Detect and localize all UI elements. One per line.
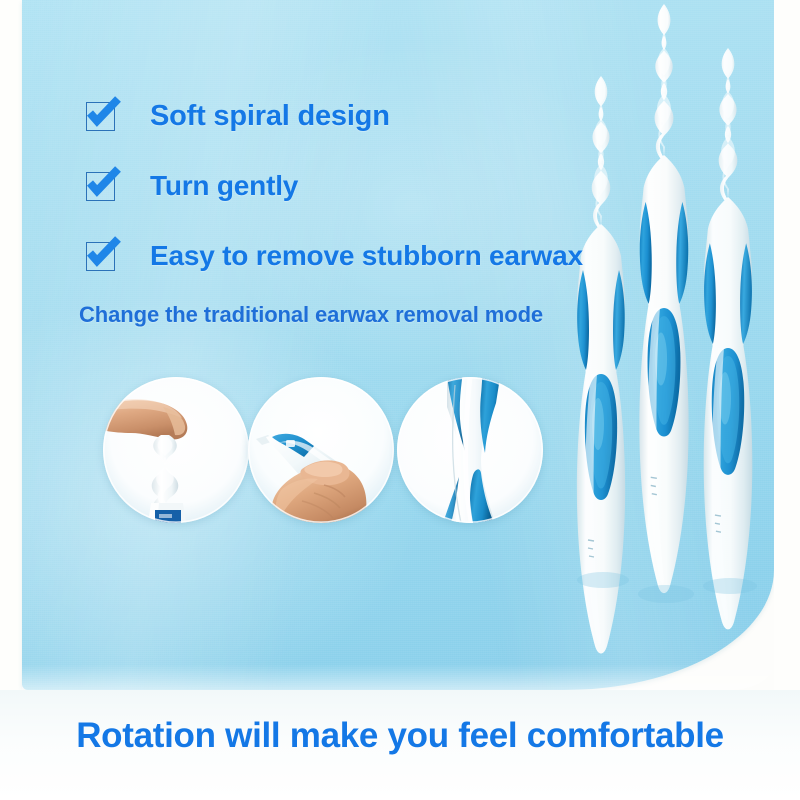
left-edge-margin xyxy=(0,0,22,690)
feature-item: Soft spiral design xyxy=(86,88,686,144)
panel-bottom-glow xyxy=(22,664,774,690)
checkbox-checked-icon xyxy=(86,242,115,271)
checkbox-checked-icon xyxy=(86,102,115,131)
feature-label: Turn gently xyxy=(150,170,298,202)
bottom-banner-title: Rotation will make you feel comfortable xyxy=(0,716,800,756)
right-edge-margin xyxy=(774,0,800,690)
product-poster: Soft spiral design Turn gently Easy to r… xyxy=(0,0,800,800)
feature-item: Easy to remove stubborn earwax xyxy=(86,228,686,284)
feature-list: Soft spiral design Turn gently Easy to r… xyxy=(86,88,686,298)
photo-closeup-blue-grip-handle xyxy=(397,377,543,523)
feature-item: Turn gently xyxy=(86,158,686,214)
checkbox-checked-icon xyxy=(86,172,115,201)
photo-hand-holding-earwax-remover xyxy=(248,377,394,523)
feature-label: Soft spiral design xyxy=(150,100,390,133)
tagline-text: Change the traditional earwax removal mo… xyxy=(79,302,543,328)
feature-label: Easy to remove stubborn earwax xyxy=(150,240,583,272)
photo-fingers-holding-spiral-tip xyxy=(103,377,249,523)
